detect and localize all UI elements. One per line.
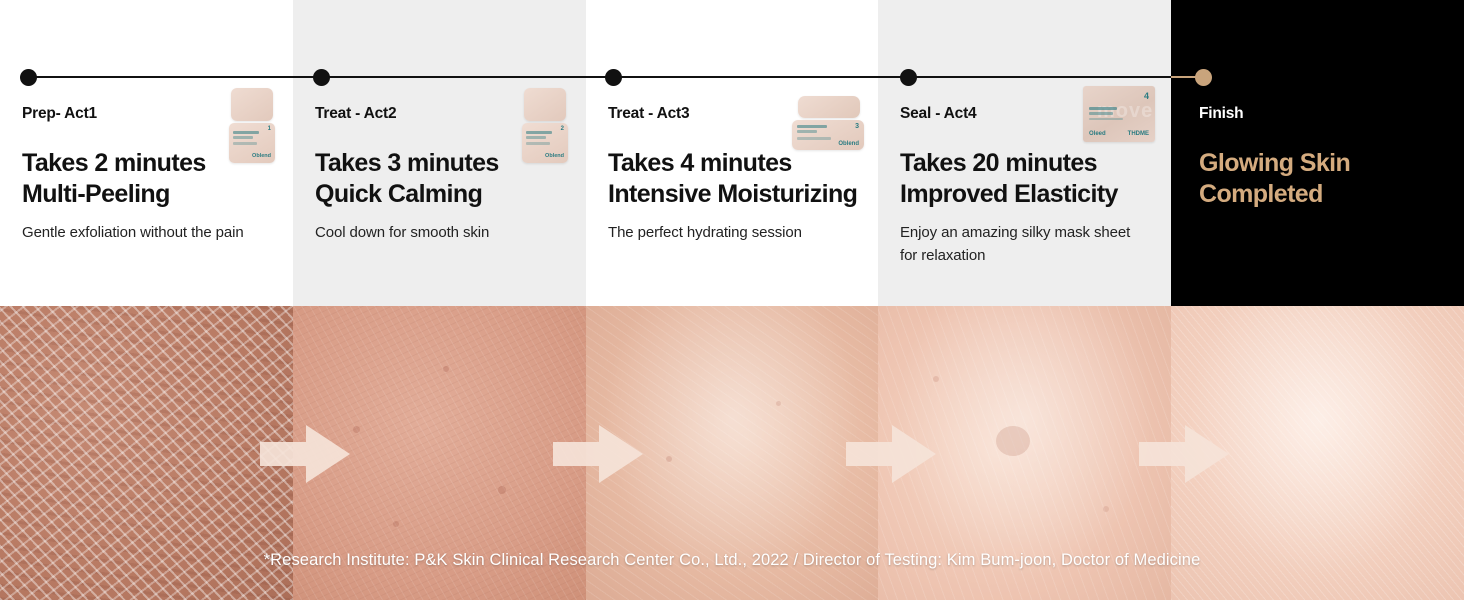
headline-line-2a: Takes 3 minutes <box>315 149 499 177</box>
skin-spot <box>996 426 1030 456</box>
stage-headline-3: Takes 4 minutes Intensive Moisturizing <box>608 148 857 210</box>
product-image-4: move 4 Oleed THDME <box>1083 86 1155 142</box>
headline-line-5a: Glowing Skin <box>1199 149 1350 177</box>
skin-spot <box>1103 506 1109 512</box>
headline-line-5b: Completed <box>1199 180 1323 208</box>
product-body-1: 1 Oblend <box>229 123 275 163</box>
stage-description-4: Enjoy an amazing silky mask sheet for re… <box>900 221 1145 267</box>
product-text-line <box>1089 107 1117 110</box>
skin-spot <box>443 366 449 372</box>
stage-headline-1: Takes 2 minutes Multi-Peeling <box>22 148 206 210</box>
product-body-3: 3 Oblend <box>792 120 864 150</box>
product-body-2: 2 Oblend <box>522 123 568 163</box>
product-text-line <box>526 136 546 139</box>
product-brand-1: Oblend <box>252 153 271 159</box>
product-image-2: 2 Oblend <box>522 88 568 163</box>
stage-description-2: Cool down for smooth skin <box>315 221 565 244</box>
skin-spot <box>776 401 781 406</box>
product-text-line <box>233 136 253 139</box>
stage-description-1: Gentle exfoliation without the pain <box>22 221 247 244</box>
mask-sheet-pouch: move 4 Oleed THDME <box>1083 86 1155 142</box>
product-image-1: 1 Oblend <box>229 88 275 163</box>
step-column-4: Seal - Act4 Takes 20 minutes Improved El… <box>878 0 1171 306</box>
product-number-3: 3 <box>855 123 859 130</box>
headline-line-3a: Takes 4 minutes <box>608 149 792 177</box>
product-cap-3 <box>798 96 860 118</box>
headline-line-1b: Multi-Peeling <box>22 180 170 208</box>
product-text-line <box>797 137 831 140</box>
product-number-1: 1 <box>268 126 271 132</box>
step-column-1: Prep- Act1 Takes 2 minutes Multi-Peeling… <box>0 0 293 306</box>
stage-label-2: Treat - Act2 <box>315 105 396 123</box>
product-brand-3: Oblend <box>838 141 859 147</box>
steps-row: Prep- Act1 Takes 2 minutes Multi-Peeling… <box>0 0 1464 306</box>
pouch-brand-left: Oleed <box>1089 131 1106 137</box>
product-brand-2: Oblend <box>545 153 564 159</box>
stage-description-3: The perfect hydrating session <box>608 221 873 244</box>
product-text-line <box>797 125 827 128</box>
product-text-line <box>233 131 259 134</box>
headline-line-3b: Intensive Moisturizing <box>608 180 857 208</box>
step-column-2: Treat - Act2 Takes 3 minutes Quick Calmi… <box>293 0 586 306</box>
product-number-4: 4 <box>1144 91 1149 101</box>
product-text-line <box>233 142 257 145</box>
step-column-5-finish: Finish Glowing Skin Completed <box>1171 0 1464 306</box>
product-text-line <box>526 131 552 134</box>
research-caption: *Research Institute: P&K Skin Clinical R… <box>0 551 1464 570</box>
product-image-3: 3 Oblend <box>792 96 864 150</box>
step-column-3: Treat - Act3 Takes 4 minutes Intensive M… <box>586 0 878 306</box>
pouch-brand-right: THDME <box>1128 131 1149 137</box>
product-number-2: 2 <box>561 126 564 132</box>
stage-label-5: Finish <box>1199 105 1243 123</box>
headline-line-4a: Takes 20 minutes <box>900 149 1097 177</box>
skincare-routine-infographic: Prep- Act1 Takes 2 minutes Multi-Peeling… <box>0 0 1464 600</box>
stage-headline-5: Glowing Skin Completed <box>1199 148 1350 210</box>
skin-spot <box>353 426 360 433</box>
skin-spot <box>393 521 399 527</box>
skin-spot <box>666 456 672 462</box>
skin-spot <box>933 376 939 382</box>
stage-label-1: Prep- Act1 <box>22 105 97 123</box>
skin-spot <box>498 486 506 494</box>
stage-label-3: Treat - Act3 <box>608 105 689 123</box>
headline-line-2b: Quick Calming <box>315 180 482 208</box>
product-cap-1 <box>231 88 273 121</box>
stage-headline-2: Takes 3 minutes Quick Calming <box>315 148 499 210</box>
product-text-line <box>1089 118 1123 120</box>
product-text-line <box>797 130 817 133</box>
headline-line-1a: Takes 2 minutes <box>22 149 206 177</box>
product-cap-2 <box>524 88 566 121</box>
headline-line-4b: Improved Elasticity <box>900 180 1118 208</box>
product-text-line <box>1089 112 1113 115</box>
product-text-line <box>526 142 550 145</box>
stage-headline-4: Takes 20 minutes Improved Elasticity <box>900 148 1118 210</box>
stage-label-4: Seal - Act4 <box>900 105 976 123</box>
